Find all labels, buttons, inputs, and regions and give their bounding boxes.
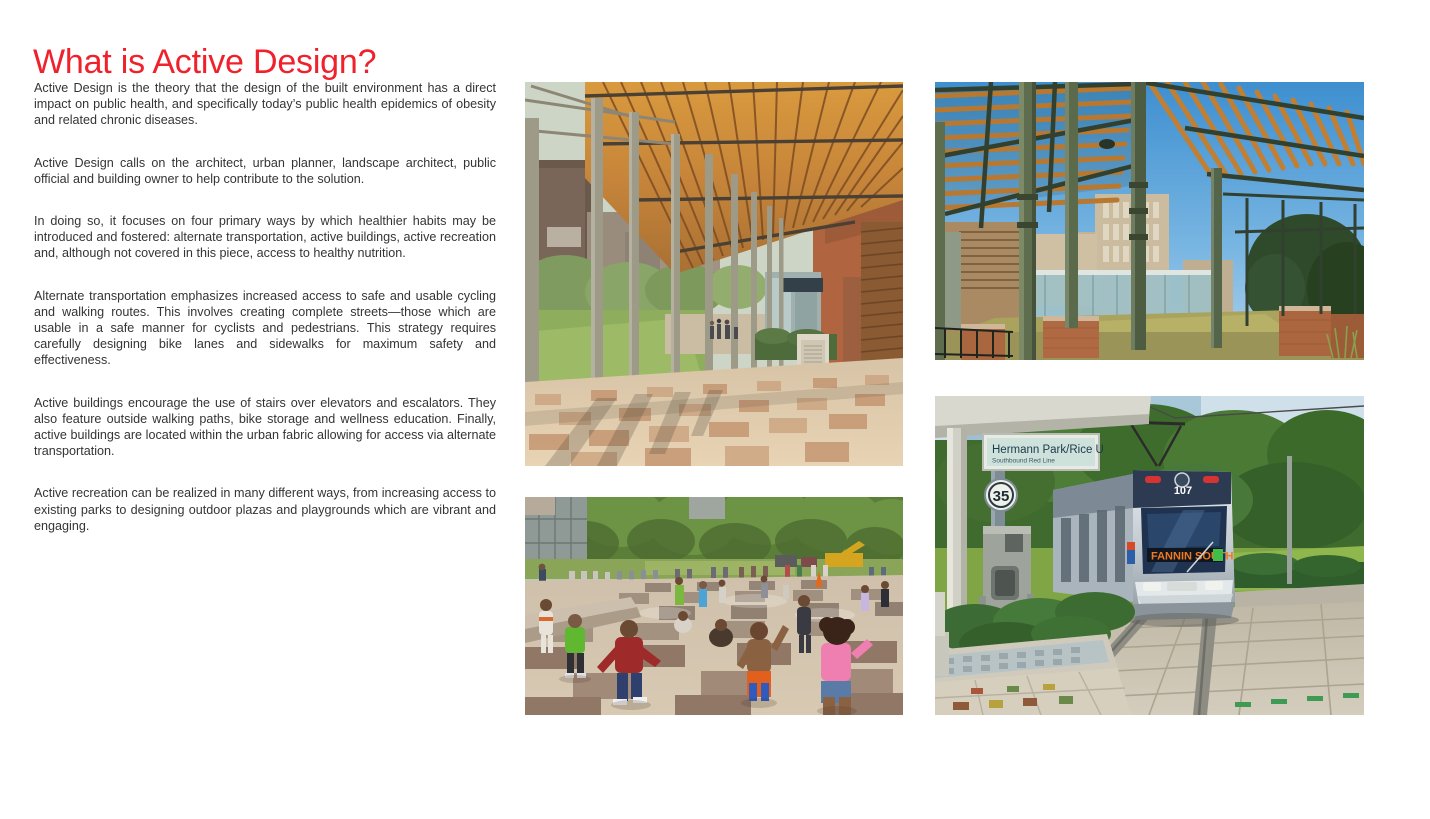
covered-walkway-photo [525, 82, 903, 466]
paragraph-call-to-action: Active Design calls on the architect, ur… [34, 155, 496, 187]
paragraph-definition: Active Design is the theory that the des… [34, 80, 496, 129]
paragraph-alternate-transportation: Alternate transportation emphasizes incr… [34, 288, 496, 369]
splash-pad-plaza-photo [525, 497, 903, 715]
speed-limit-text: 35 [993, 488, 1010, 505]
page-title: What is Active Design? [33, 45, 376, 79]
slide-root: What is Active Design? Active Design is … [0, 0, 1430, 819]
light-rail-station-photo: FANNIN SOUTH 107 [935, 396, 1364, 715]
station-line-text: Southbound Red Line [992, 458, 1055, 465]
station-name-text: Hermann Park/Rice U [992, 444, 1104, 456]
station-sign-graphic: Hermann Park/Rice U Southbound Red Line [983, 434, 1104, 470]
paragraph-four-ways: In doing so, it focuses on four primary … [34, 213, 496, 262]
speed-limit-sign-graphic: 35 [985, 479, 1017, 511]
body-copy-column: Active Design is the theory that the des… [34, 80, 496, 534]
pergola-photo [935, 82, 1364, 360]
paragraph-active-recreation: Active recreation can be realized in man… [34, 485, 496, 534]
paragraph-active-buildings: Active buildings encourage the use of st… [34, 395, 496, 460]
